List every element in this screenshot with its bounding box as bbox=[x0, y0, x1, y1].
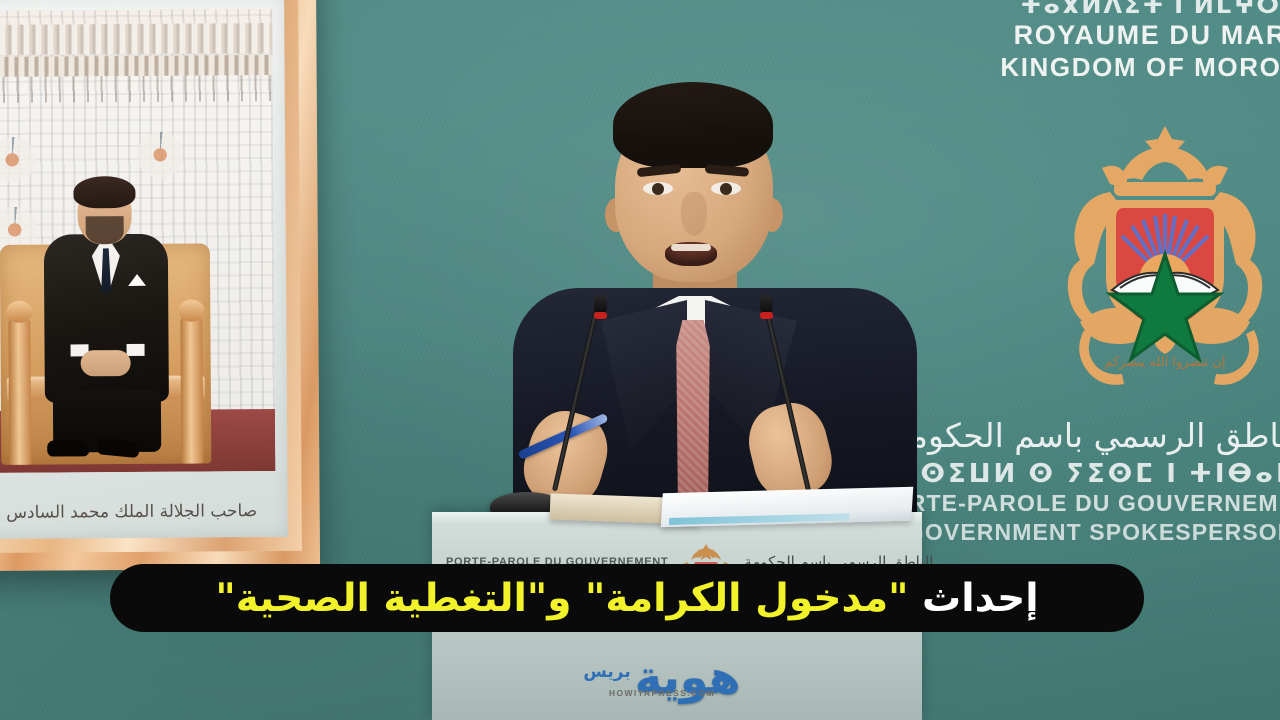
arch-frieze bbox=[0, 75, 273, 103]
king-hands bbox=[81, 350, 131, 376]
king-cuff-right bbox=[127, 344, 145, 356]
speaker-eye-left bbox=[643, 182, 673, 195]
stucco-band-second bbox=[0, 55, 273, 77]
morocco-coat-of-arms-icon: إن تنصروا الله ينصركم bbox=[1040, 108, 1280, 408]
video-frame: ⵜⴰⴳⵍⴷⵉⵜ ⵏ ⵍⵎⵖⵔⵉⴱ ROYAUME DU MAROC KINGDO… bbox=[0, 0, 1280, 720]
throne-post-right bbox=[180, 314, 203, 464]
spokesperson-sign: الناطق الرسمي باسم الحكومة ⴰⵎⵙⵉⵡⵍ ⵙ ⵢⵉⵙⵎ… bbox=[873, 415, 1280, 547]
spokesperson-arabic: الناطق الرسمي باسم الحكومة bbox=[873, 415, 1280, 457]
king-shoe-left bbox=[47, 440, 89, 456]
speaker-nose bbox=[681, 192, 707, 236]
header-french: ROYAUME DU MAROC bbox=[1000, 20, 1280, 52]
king-photograph bbox=[0, 9, 275, 473]
zellige-rosette bbox=[137, 132, 183, 178]
header-english: KINGDOM OF MOROCCO bbox=[1000, 52, 1280, 83]
microphone-left bbox=[478, 296, 608, 526]
king-figure bbox=[43, 182, 169, 455]
throne-post-left bbox=[8, 315, 31, 465]
spokesperson-english: GOVERNMENT SPOKESPERSON bbox=[873, 518, 1280, 547]
header-tifinagh: ⵜⴰⴳⵍⴷⵉⵜ ⵏ ⵍⵎⵖⵔⵉⴱ bbox=[1000, 0, 1280, 20]
king-beard bbox=[86, 216, 124, 244]
caption-segment-white: إحداث bbox=[908, 576, 1038, 621]
frame-inner-mat: صاحب الجلالة الملك محمد السادس bbox=[0, 0, 288, 539]
header-sign-texts: ⵜⴰⴳⵍⴷⵉⵜ ⵏ ⵍⵎⵖⵔⵉⴱ ROYAUME DU MAROC KINGDO… bbox=[1000, 0, 1280, 83]
documents-on-podium bbox=[661, 487, 914, 528]
king-hair bbox=[73, 176, 135, 208]
stucco-band-top bbox=[0, 23, 272, 55]
spokesperson-tifinagh: ⴰⵎⵙⵉⵡⵍ ⵙ ⵢⵉⵙⵎ ⵏ ⵜⵏⴱⴰⴹⵜ bbox=[873, 457, 1280, 490]
speaker-hair bbox=[613, 82, 773, 168]
svg-text:إن تنصروا الله ينصركم: إن تنصروا الله ينصركم bbox=[1104, 355, 1225, 370]
news-caption-bar: إحداث "مدخول الكرامة" و"التغطية الصحية" bbox=[110, 564, 1144, 632]
caption-segment-yellow: "مدخول الكرامة" و"التغطية الصحية" bbox=[215, 576, 908, 621]
watermark-url: HOWIYAPRESS.COM bbox=[609, 688, 715, 698]
watermark-logo: هوية بريس HOWIYAPRESS.COM bbox=[578, 642, 746, 712]
portrait-caption: صاحب الجلالة الملك محمد السادس bbox=[0, 501, 288, 523]
king-portrait-frame: صاحب الجلالة الملك محمد السادس bbox=[0, 0, 320, 571]
speaker-eye-right bbox=[711, 182, 741, 195]
spokesperson-french: PORTE-PAROLE DU GOUVERNEMENT bbox=[873, 489, 1280, 518]
speaker-mouth bbox=[665, 242, 717, 266]
caption-text: إحداث "مدخول الكرامة" و"التغطية الصحية" bbox=[215, 579, 1038, 618]
